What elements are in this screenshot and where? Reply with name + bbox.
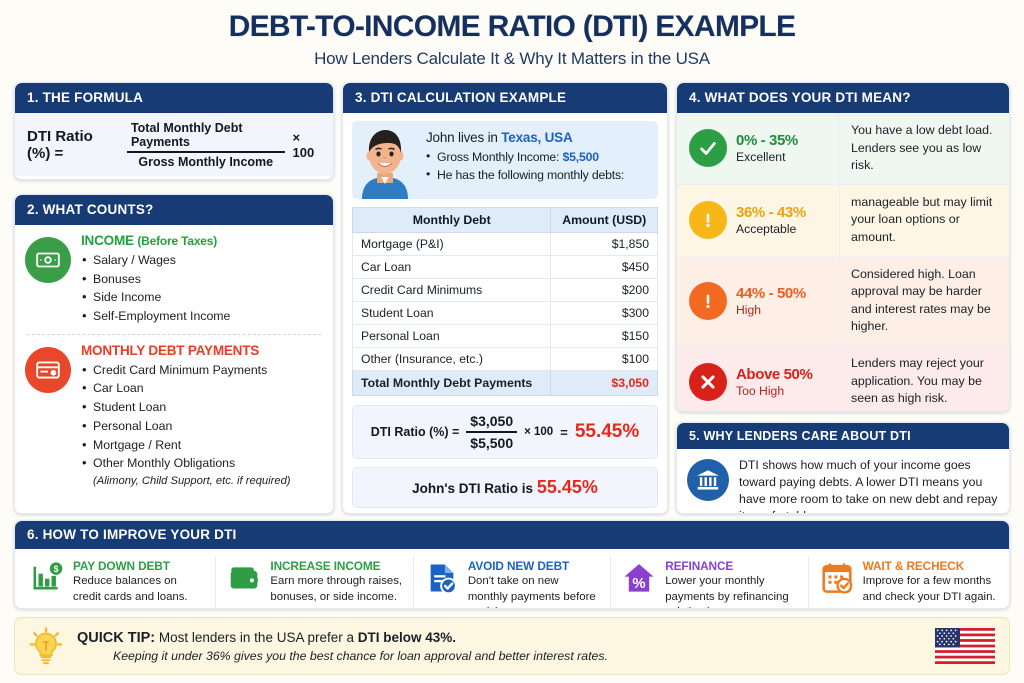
calc-denominator: $5,500 — [466, 433, 517, 451]
panel-why-heading: 5. WHY LENDERS CARE ABOUT DTI — [677, 423, 1009, 449]
panel-what-counts-body: INCOME (Before Taxes) Salary / Wages Bon… — [15, 225, 333, 498]
page-title: DEBT-TO-INCOME RATIO (DTI) EXAMPLE — [0, 0, 1024, 44]
range-right: Lenders may reject your application. You… — [840, 346, 1009, 412]
cell-debt-name: Student Loan — [353, 302, 551, 325]
john-intro: John lives in Texas, USA — [426, 130, 624, 145]
total-label: Total Monthly Debt Payments — [353, 371, 551, 396]
john-location: Texas, USA — [501, 130, 572, 145]
page-subtitle: How Lenders Calculate It & Why It Matter… — [0, 44, 1024, 69]
money-bill-icon — [25, 237, 71, 283]
range-right: manageable but may limit your loan optio… — [840, 185, 1009, 256]
panel-formula-body: DTI Ratio (%) = Total Monthly Debt Payme… — [15, 113, 333, 176]
calc-lhs: DTI Ratio (%) = — [371, 425, 460, 439]
table-row: Personal Loan $150 — [353, 325, 658, 348]
range-value: Above 50% — [736, 366, 812, 383]
dti-range-row-high: 44% - 50% High Considered high. Loan app… — [677, 257, 1009, 346]
total-value: $3,050 — [551, 371, 658, 396]
table-row: Mortgage (P&I) $1,850 — [353, 233, 658, 256]
house-percent-icon: % — [622, 561, 656, 595]
improve-tip-avoid-new-debt: AVOID NEW DEBT Don't take on new monthly… — [414, 557, 611, 609]
check-circle-icon — [689, 129, 727, 167]
cell-debt-amount: $200 — [551, 279, 658, 302]
formula-lhs: DTI Ratio (%) = — [27, 128, 119, 162]
list-item: Self-Employment Income — [81, 307, 230, 326]
income-list: Salary / Wages Bonuses Side Income Self-… — [81, 251, 230, 326]
wallet-icon — [227, 561, 261, 595]
cell-debt-amount: $150 — [551, 325, 658, 348]
panel-what-counts-heading: 2. WHAT COUNTS? — [15, 195, 333, 225]
quick-tip-bold: DTI below 43%. — [358, 630, 456, 645]
why-text: DTI shows how much of your income goes t… — [739, 457, 998, 514]
quick-tip-line2: Keeping it under 36% gives you the best … — [77, 649, 923, 663]
improve-tip-refinance: % REFINANCE Lower your monthly payments … — [611, 557, 808, 609]
usa-flag-icon — [935, 628, 995, 664]
john-profile-box: John lives in Texas, USA Gross Monthly I… — [352, 121, 658, 199]
bar-chart-dollar-icon: $ — [30, 561, 64, 595]
tip-title: AVOID NEW DEBT — [468, 559, 601, 573]
lightbulb-icon — [27, 627, 65, 665]
table-header-row: Monthly Debt Amount (USD) — [353, 208, 658, 233]
range-label: Acceptable — [736, 222, 806, 236]
range-label: Too High — [736, 384, 812, 398]
range-right: You have a low debt load. Lenders see yo… — [840, 113, 1009, 184]
dti-calculation-box: DTI Ratio (%) = $3,050 $5,500 × 100 = 55… — [352, 405, 658, 459]
result-label: John's DTI Ratio is — [412, 481, 537, 496]
table-row: Car Loan $450 — [353, 256, 658, 279]
income-title: INCOME (Before Taxes) — [81, 233, 230, 248]
list-item: Other Monthly Obligations — [81, 454, 291, 473]
exclamation-circle-icon — [689, 201, 727, 239]
formula-row: DTI Ratio (%) = Total Monthly Debt Payme… — [27, 121, 321, 169]
list-item: Personal Loan — [81, 417, 291, 436]
quick-tip-heading: QUICK TIP: — [77, 630, 155, 646]
panel-why-lenders-care: 5. WHY LENDERS CARE ABOUT DTI DTI shows … — [676, 422, 1010, 514]
cell-debt-name: Credit Card Minimums — [353, 279, 551, 302]
tip-description: Reduce balances on credit cards and loan… — [73, 574, 206, 605]
infographic-page: DEBT-TO-INCOME RATIO (DTI) EXAMPLE How L… — [0, 0, 1024, 683]
dti-range-row-too-high: Above 50% Too High Lenders may reject yo… — [677, 346, 1009, 412]
debt-list: Credit Card Minimum Payments Car Loan St… — [81, 361, 291, 490]
table-row: Student Loan $300 — [353, 302, 658, 325]
range-value: 0% - 35% — [736, 132, 798, 149]
result-value: 55.45% — [537, 477, 598, 497]
calendar-check-icon — [820, 561, 854, 595]
calc-result: 55.45% — [575, 421, 639, 443]
panel-dti-meaning-body: 0% - 35% Excellent You have a low debt l… — [677, 113, 1009, 412]
credit-card-icon — [25, 347, 71, 393]
quick-tip-footer: QUICK TIP: Most lenders in the USA prefe… — [14, 617, 1010, 675]
range-label: Excellent — [736, 150, 798, 164]
range-left: Above 50% Too High — [677, 346, 840, 412]
tip-description: Improve for a few months and check your … — [863, 574, 996, 605]
tip-title: INCREASE INCOME — [270, 559, 403, 573]
range-label: High — [736, 303, 806, 317]
svg-text:%: % — [633, 576, 646, 592]
panel-calculation-body: John lives in Texas, USA Gross Monthly I… — [343, 113, 667, 514]
panel-why-body: DTI shows how much of your income goes t… — [677, 449, 1009, 514]
range-left: 44% - 50% High — [677, 257, 840, 345]
formula-numerator: Total Monthly Debt Payments — [127, 121, 285, 151]
panel-improve-heading: 6. HOW TO IMPROVE YOUR DTI — [15, 521, 1009, 549]
exclamation-circle-icon — [689, 282, 727, 320]
range-description: manageable but may limit your loan optio… — [851, 194, 999, 247]
john-text: John lives in Texas, USA Gross Monthly I… — [426, 121, 624, 184]
cell-debt-name: Other (Insurance, etc.) — [353, 348, 551, 371]
divider — [27, 334, 321, 335]
panel-dti-meaning: 4. WHAT DOES YOUR DTI MEAN? 0% - 35% Exc… — [676, 82, 1010, 412]
quick-tip-line1: QUICK TIP: Most lenders in the USA prefe… — [77, 630, 923, 646]
dti-range-row-acceptable: 36% - 43% Acceptable manageable but may … — [677, 185, 1009, 257]
cell-debt-amount: $450 — [551, 256, 658, 279]
calc-numerator: $3,050 — [466, 413, 517, 431]
dti-result-box: John's DTI Ratio is 55.45% — [352, 467, 658, 508]
cell-debt-amount: $1,850 — [551, 233, 658, 256]
range-value: 36% - 43% — [736, 204, 806, 221]
formula-fraction: Total Monthly Debt Payments Gross Monthl… — [127, 121, 285, 169]
panel-how-to-improve: 6. HOW TO IMPROVE YOUR DTI $ PAY DOWN DE… — [14, 520, 1010, 609]
panel-what-counts: 2. WHAT COUNTS? INCOME (Before Taxes) — [14, 194, 334, 514]
cell-debt-amount: $300 — [551, 302, 658, 325]
column-header-debt: Monthly Debt — [353, 208, 551, 233]
range-description: Lenders may reject your application. You… — [851, 355, 999, 408]
range-description: Considered high. Loan approval may be ha… — [851, 266, 999, 336]
range-value: 44% - 50% — [736, 285, 806, 302]
cell-debt-name: Mortgage (P&I) — [353, 233, 551, 256]
debt-group: MONTHLY DEBT PAYMENTS Credit Card Minimu… — [25, 343, 323, 490]
x-circle-icon — [689, 363, 727, 401]
range-right: Considered high. Loan approval may be ha… — [840, 257, 1009, 345]
tip-title: PAY DOWN DEBT — [73, 559, 206, 573]
list-item: He has the following monthly debts: — [426, 166, 624, 184]
tip-description: Lower your monthly payments by refinanci… — [665, 574, 798, 609]
cell-debt-name: Car Loan — [353, 256, 551, 279]
formula-denominator: Gross Monthly Income — [134, 153, 277, 169]
list-item: Bonuses — [81, 270, 230, 289]
document-check-icon — [425, 561, 459, 595]
list-item: Salary / Wages — [81, 251, 230, 270]
debt-note: (Alimony, Child Support, etc. if require… — [81, 473, 291, 490]
list-item: Gross Monthly Income: $5,500 — [426, 148, 624, 166]
debt-title: MONTHLY DEBT PAYMENTS — [81, 343, 291, 358]
list-item: Student Loan — [81, 398, 291, 417]
john-bullets: Gross Monthly Income: $5,500 He has the … — [426, 148, 624, 184]
list-item: Side Income — [81, 288, 230, 307]
table-row: Other (Insurance, etc.) $100 — [353, 348, 658, 371]
panel-formula-heading: 1. THE FORMULA — [15, 83, 333, 113]
list-item: Credit Card Minimum Payments — [81, 361, 291, 380]
list-item: Car Loan — [81, 379, 291, 398]
quick-tip-plain: Most lenders in the USA prefer a — [155, 630, 358, 645]
panel-calculation-heading: 3. DTI CALCULATION EXAMPLE — [343, 83, 667, 113]
tip-title: REFINANCE — [665, 559, 798, 573]
range-left: 36% - 43% Acceptable — [677, 185, 840, 256]
panel-improve-body: $ PAY DOWN DEBT Reduce balances on credi… — [15, 549, 1009, 609]
panel-dti-meaning-heading: 4. WHAT DOES YOUR DTI MEAN? — [677, 83, 1009, 113]
range-left: 0% - 35% Excellent — [677, 113, 840, 184]
bank-icon — [687, 459, 729, 501]
tip-title: WAIT & RECHECK — [863, 559, 996, 573]
table-total-row: Total Monthly Debt Payments $3,050 — [353, 371, 658, 396]
gross-income-value: $5,500 — [562, 150, 598, 164]
column-header-amount: Amount (USD) — [551, 208, 658, 233]
improve-tip-wait-recheck: WAIT & RECHECK Improve for a few months … — [809, 557, 1005, 609]
improve-tip-pay-down-debt: $ PAY DOWN DEBT Reduce balances on credi… — [19, 557, 216, 609]
cell-debt-name: Personal Loan — [353, 325, 551, 348]
panel-calculation-example: 3. DTI CALCULATION EXAMPLE — [342, 82, 668, 514]
calc-equals: = — [560, 425, 568, 440]
income-group: INCOME (Before Taxes) Salary / Wages Bon… — [25, 233, 323, 326]
range-description: You have a low debt load. Lenders see yo… — [851, 122, 999, 175]
panel-formula: 1. THE FORMULA DTI Ratio (%) = Total Mon… — [14, 82, 334, 180]
svg-text:$: $ — [54, 564, 59, 574]
quick-tip-text: QUICK TIP: Most lenders in the USA prefe… — [77, 630, 923, 663]
cell-debt-amount: $100 — [551, 348, 658, 371]
calc-fraction: $3,050 $5,500 — [466, 413, 517, 451]
table-row: Credit Card Minimums $200 — [353, 279, 658, 302]
improve-tip-increase-income: INCREASE INCOME Earn more through raises… — [216, 557, 413, 609]
dti-range-row-excellent: 0% - 35% Excellent You have a low debt l… — [677, 113, 1009, 185]
person-avatar-icon — [352, 121, 418, 199]
tip-description: Earn more through raises, bonuses, or si… — [270, 574, 403, 605]
formula-multiplier: × 100 — [293, 130, 321, 160]
list-item: Mortgage / Rent — [81, 436, 291, 455]
income-title-sub: (Before Taxes) — [137, 234, 217, 248]
calc-multiplier: × 100 — [524, 426, 553, 438]
debt-table: Monthly Debt Amount (USD) Mortgage (P&I)… — [352, 207, 658, 396]
tip-description: Don't take on new monthly payments befor… — [468, 574, 601, 609]
